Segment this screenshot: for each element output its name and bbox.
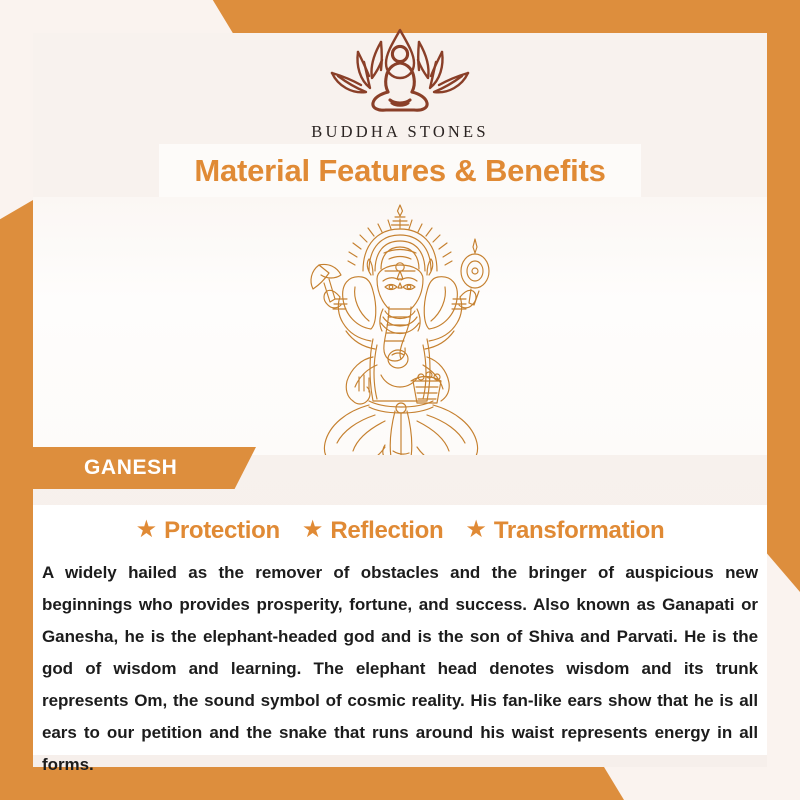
page-title-plate: Material Features & Benefits [159, 144, 641, 197]
feature-item-reflection: ★ Reflection [302, 517, 444, 545]
star-icon: ★ [465, 518, 487, 542]
feature-item-transformation: ★ Transformation [465, 517, 664, 545]
lotus-meditation-icon [312, 24, 488, 120]
ganesh-line-art-icon [285, 199, 515, 455]
brand-header: BUDDHA STONES [0, 24, 800, 142]
content-card: ★ Protection ★ Reflection ★ Transformati… [33, 505, 767, 755]
page-title: Material Features & Benefits [194, 153, 605, 189]
description-paragraph: A widely hailed as the remover of obstac… [33, 557, 767, 781]
ribbon-label: GANESH [84, 456, 177, 480]
section-ribbon-ganesh: GANESH [18, 447, 256, 489]
poster-root: BUDDHA STONES Material Features & Benefi… [0, 0, 800, 800]
star-icon: ★ [136, 518, 158, 542]
feature-label: Reflection [330, 517, 443, 545]
star-icon: ★ [302, 518, 324, 542]
brand-name: BUDDHA STONES [311, 122, 488, 142]
feature-item-protection: ★ Protection [136, 517, 280, 545]
feature-label: Protection [164, 517, 280, 545]
hero-section [33, 197, 767, 455]
feature-keyword-list: ★ Protection ★ Reflection ★ Transformati… [33, 505, 767, 545]
feature-label: Transformation [494, 517, 665, 545]
frame-band-left [0, 200, 33, 800]
